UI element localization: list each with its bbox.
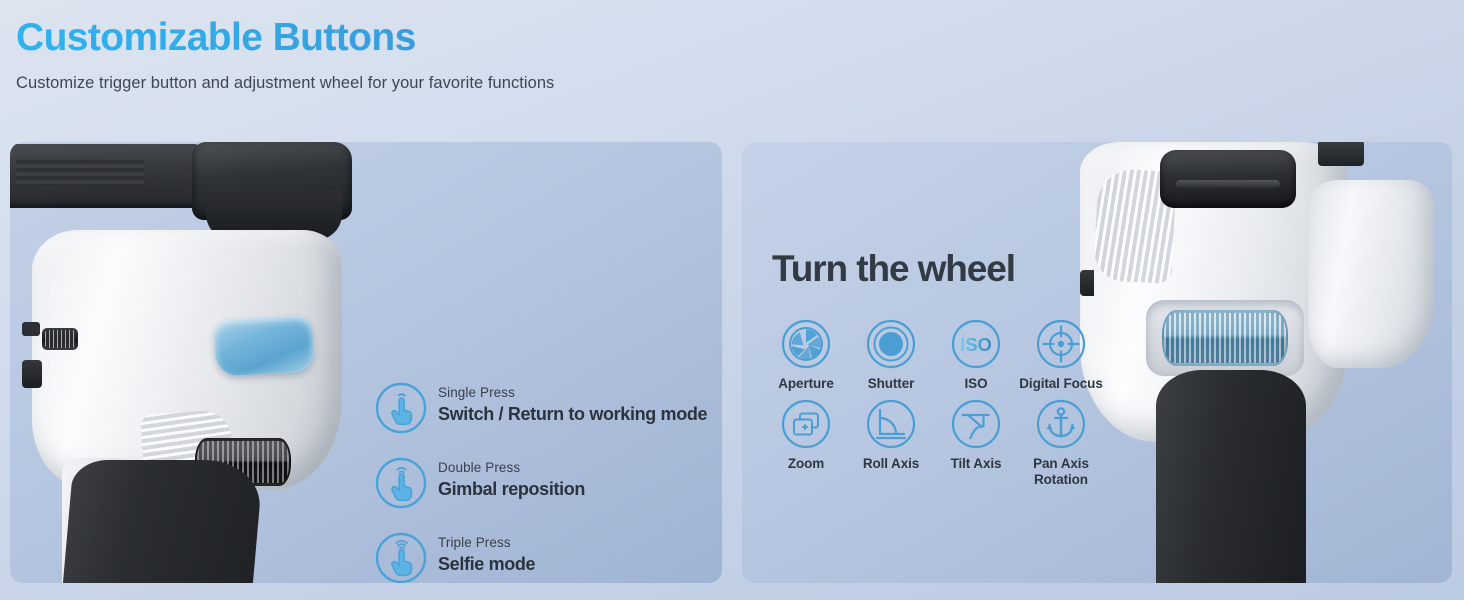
gimbal-adjustment-wheel-highlight bbox=[1162, 310, 1288, 366]
gimbal-side-button bbox=[1080, 270, 1094, 296]
wheel-function-shutter: Shutter bbox=[849, 318, 933, 392]
tilt-axis-icon bbox=[950, 398, 1002, 450]
gimbal-side-button-top bbox=[22, 322, 40, 336]
svg-text:ISO: ISO bbox=[960, 334, 992, 355]
promo-page: Customizable Buttons Customize trigger b… bbox=[0, 0, 1464, 600]
list-item: Single Press Switch / Return to working … bbox=[375, 380, 720, 434]
wheel-function-label: Zoom bbox=[764, 456, 848, 472]
gimbal-top-button bbox=[1160, 150, 1296, 208]
shutter-icon bbox=[865, 318, 917, 370]
iso-icon: ISO bbox=[950, 318, 1002, 370]
press-type-label: Double Press bbox=[438, 461, 585, 476]
pan-axis-icon bbox=[1035, 398, 1087, 450]
gimbal-side-view-image bbox=[10, 142, 360, 583]
gimbal-vent-lines-front bbox=[1093, 168, 1177, 284]
single-press-icon bbox=[375, 382, 427, 434]
gimbal-arm bbox=[1308, 180, 1434, 368]
wheel-function-digital-focus: Digital Focus bbox=[1019, 318, 1103, 392]
gimbal-side-button-bottom bbox=[22, 360, 42, 388]
gimbal-adjustment-wheel bbox=[195, 438, 291, 486]
gimbal-body-front bbox=[1080, 142, 1348, 442]
list-item: Triple Press Selfie mode bbox=[375, 530, 720, 583]
turn-the-wheel-heading: Turn the wheel bbox=[772, 248, 1015, 290]
wheel-function-label: Pan Axis Rotation bbox=[1019, 456, 1103, 488]
digital-focus-icon bbox=[1035, 318, 1087, 370]
wheel-function-label: Roll Axis bbox=[849, 456, 933, 472]
gimbal-motor bbox=[192, 142, 352, 220]
press-type-label: Triple Press bbox=[438, 536, 535, 551]
gimbal-top-plate bbox=[10, 144, 202, 208]
triple-press-icon bbox=[375, 532, 427, 583]
wheel-function-aperture: Aperture bbox=[764, 318, 848, 392]
gimbal-body bbox=[32, 230, 342, 490]
wheel-function-label: Shutter bbox=[849, 376, 933, 392]
gimbal-front-view-image bbox=[1072, 142, 1452, 583]
list-item: Double Press Gimbal reposition bbox=[375, 455, 720, 509]
aperture-icon bbox=[780, 318, 832, 370]
double-press-icon bbox=[375, 457, 427, 509]
wheel-function-tilt-axis: Tilt Axis bbox=[934, 398, 1018, 488]
wheel-function-label: Tilt Axis bbox=[934, 456, 1018, 472]
wheel-function-iso: ISO ISO bbox=[934, 318, 1018, 392]
trigger-button-panel: Single Press Switch / Return to working … bbox=[10, 142, 722, 583]
wheel-function-zoom: Zoom bbox=[764, 398, 848, 488]
wheel-function-label: Digital Focus bbox=[1019, 376, 1103, 392]
gimbal-side-dial bbox=[42, 328, 78, 350]
gimbal-trigger-button-highlight bbox=[214, 315, 315, 376]
press-action-value: Gimbal reposition bbox=[438, 479, 585, 500]
gimbal-handle-shell bbox=[62, 458, 122, 583]
wheel-function-pan-axis: Pan Axis Rotation bbox=[1019, 398, 1103, 488]
roll-axis-icon bbox=[865, 398, 917, 450]
press-type-label: Single Press bbox=[438, 386, 707, 401]
page-title: Customizable Buttons bbox=[16, 18, 916, 57]
gimbal-vent-lines bbox=[140, 409, 234, 473]
press-action-value: Selfie mode bbox=[438, 554, 535, 575]
press-action-list: Single Press Switch / Return to working … bbox=[375, 380, 720, 583]
press-action-value: Switch / Return to working mode bbox=[438, 404, 707, 425]
wheel-function-roll-axis: Roll Axis bbox=[849, 398, 933, 488]
gimbal-wheel-recess bbox=[1146, 300, 1304, 376]
zoom-icon bbox=[780, 398, 832, 450]
gimbal-grip-front bbox=[1156, 370, 1306, 583]
wheel-function-grid: Aperture Shutter bbox=[764, 318, 1103, 488]
header: Customizable Buttons Customize trigger b… bbox=[16, 18, 916, 93]
wheel-function-label: ISO bbox=[934, 376, 1018, 392]
gimbal-dark-accent bbox=[1318, 142, 1364, 166]
page-subtitle: Customize trigger button and adjustment … bbox=[16, 74, 916, 93]
gimbal-motor-collar bbox=[206, 190, 342, 240]
gimbal-grip bbox=[62, 460, 263, 583]
wheel-function-label: Aperture bbox=[764, 376, 848, 392]
